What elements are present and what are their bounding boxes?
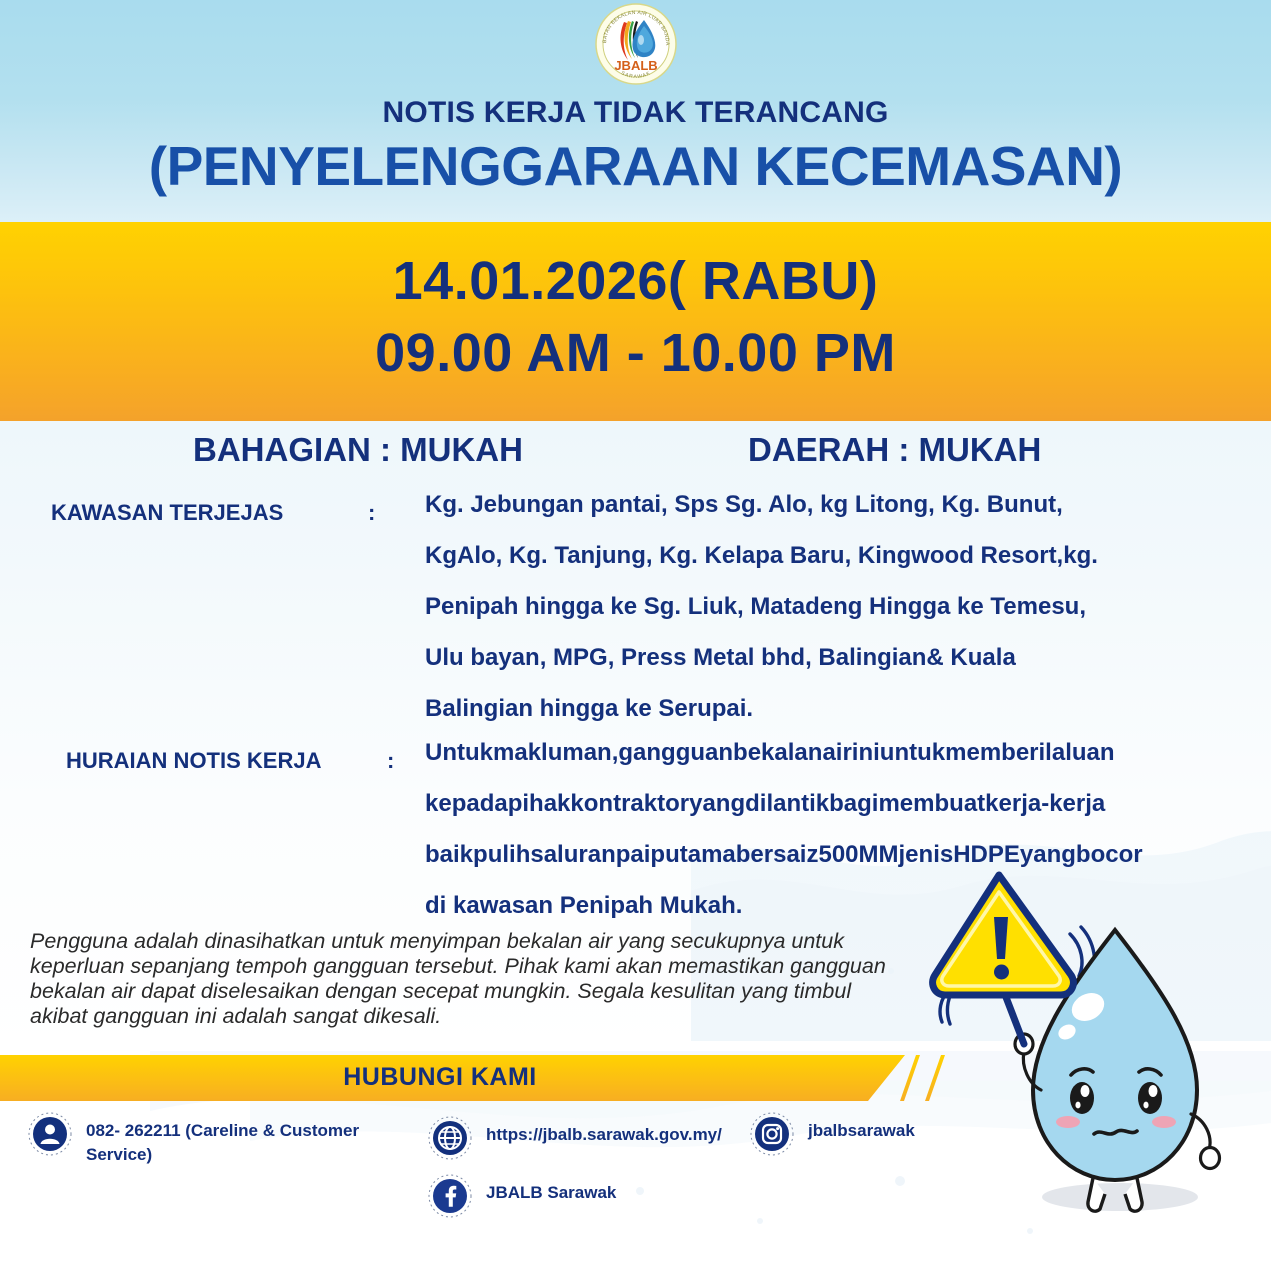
- facebook-icon: [428, 1174, 472, 1218]
- district-label: DAERAH : MUKAH: [748, 431, 1041, 469]
- contact-phone-text: 082- 262211 (Careline & Customer Service…: [86, 1112, 378, 1167]
- contact-instagram[interactable]: jbalbsarawak: [750, 1112, 1000, 1156]
- affected-areas-label: KAWASAN TERJEJAS: [51, 500, 283, 526]
- affected-areas-value: Kg. Jebungan pantai, Sps Sg. Alo, kg Lit…: [425, 479, 1240, 734]
- contact-website-text: https://jbalb.sarawak.gov.my/: [486, 1116, 722, 1147]
- contact-instagram-text: jbalbsarawak: [808, 1112, 915, 1143]
- work-description-label: HURAIAN NOTIS KERJA: [66, 748, 321, 774]
- contact-website[interactable]: https://jbalb.sarawak.gov.my/: [428, 1116, 758, 1160]
- affected-area-line: Ulu bayan, MPG, Press Metal bhd, Balingi…: [425, 632, 1240, 683]
- work-description-value: Untukmakluman,gangguanbekalanairiniuntuk…: [425, 727, 1240, 931]
- work-description-line: di kawasan Penipah Mukah.: [425, 880, 1240, 931]
- page-title: (PENYELENGGARAAN KECEMASAN): [0, 134, 1271, 198]
- notice-body: BAHAGIAN : MUKAH DAERAH : MUKAH KAWASAN …: [0, 421, 1271, 1051]
- advisory-text: Pengguna adalah dinasihatkan untuk menyi…: [30, 929, 910, 1029]
- contact-facebook-text: JBALB Sarawak: [486, 1174, 616, 1205]
- water-disruption-notice-poster: JBALB JABATAN BEKALAN AIR LUAR BANDAR SA…: [0, 0, 1271, 1272]
- contact-banner-label: HUBUNGI KAMI: [0, 1063, 880, 1092]
- affected-area-line: Kg. Jebungan pantai, Sps Sg. Alo, kg Lit…: [425, 479, 1240, 530]
- poster-header: JBALB JABATAN BEKALAN AIR LUAR BANDAR SA…: [0, 0, 1271, 222]
- contact-facebook[interactable]: JBALB Sarawak: [428, 1174, 728, 1218]
- schedule-band: 14.01.2026( RABU) 09.00 AM - 10.00 PM: [0, 222, 1271, 421]
- contact-phone[interactable]: 082- 262211 (Careline & Customer Service…: [28, 1112, 378, 1167]
- jbalb-logo-icon: JBALB JABATAN BEKALAN AIR LUAR BANDAR SA…: [594, 2, 678, 86]
- logo-wordmark: JBALB: [614, 58, 657, 73]
- division-label: BAHAGIAN : MUKAH: [193, 431, 523, 469]
- work-description-line: kepadapihakkontraktoryangdilantikbagimem…: [425, 778, 1240, 829]
- person-icon: [28, 1112, 72, 1156]
- schedule-date: 14.01.2026( RABU): [0, 250, 1271, 312]
- region-row: BAHAGIAN : MUKAH DAERAH : MUKAH: [0, 431, 1271, 479]
- affected-area-line: KgAlo, Kg. Tanjung, Kg. Kelapa Baru, Kin…: [425, 530, 1240, 581]
- work-description-line: baikpulihsaluranpaiputamabersaiz500MMjen…: [425, 829, 1240, 880]
- notice-kicker: NOTIS KERJA TIDAK TERANCANG: [0, 96, 1271, 130]
- instagram-icon: [750, 1112, 794, 1156]
- banner-slash-decoration: [900, 1055, 920, 1101]
- banner-slash-decoration: [925, 1055, 945, 1101]
- schedule-time: 09.00 AM - 10.00 PM: [0, 322, 1271, 384]
- globe-icon: [428, 1116, 472, 1160]
- affected-area-line: Penipah hingga ke Sg. Liuk, Matadeng Hin…: [425, 581, 1240, 632]
- affected-areas-colon: :: [368, 500, 375, 526]
- work-description-colon: :: [387, 748, 394, 774]
- work-description-line: Untukmakluman,gangguanbekalanairiniuntuk…: [425, 727, 1240, 778]
